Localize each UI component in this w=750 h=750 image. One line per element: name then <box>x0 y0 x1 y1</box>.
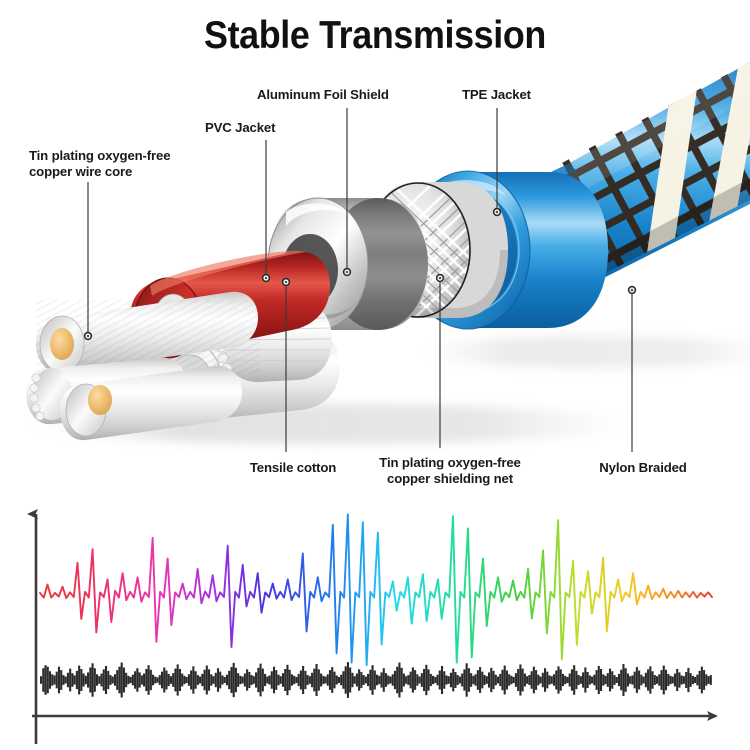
density-bar <box>374 671 376 690</box>
density-bar <box>696 675 698 686</box>
density-bar <box>302 666 304 694</box>
density-bar <box>80 669 82 691</box>
density-bar <box>445 675 447 684</box>
density-bar <box>165 671 167 690</box>
density-bar <box>636 667 638 693</box>
density-bar <box>652 671 654 688</box>
density-bar <box>575 671 577 689</box>
signal-trace <box>40 514 712 665</box>
anchor-dot-tin-plating-copper-wire-core <box>84 332 92 340</box>
density-bar <box>654 675 656 685</box>
density-bar <box>548 675 550 684</box>
density-bar <box>439 671 441 690</box>
density-bar <box>141 675 143 684</box>
density-bar <box>710 675 712 685</box>
transmission-waveform-chart <box>0 500 750 750</box>
density-bar <box>506 671 508 690</box>
anchor-dot-tin-plating-copper-shielding-net <box>436 274 444 282</box>
callout-label-tensile-cotton: Tensile cotton <box>218 460 368 476</box>
density-bar <box>197 675 199 685</box>
density-bar <box>298 674 300 686</box>
density-bar <box>74 675 76 684</box>
density-bar <box>631 675 633 684</box>
density-bar <box>699 671 701 689</box>
density-bar <box>526 676 528 684</box>
copper-core-lower <box>88 385 112 415</box>
density-bar <box>257 668 259 692</box>
density-bar <box>611 671 613 688</box>
density-bar <box>656 676 658 684</box>
density-bar <box>179 669 181 691</box>
density-bar <box>318 669 320 690</box>
density-bar <box>517 669 519 691</box>
density-bar <box>376 675 378 686</box>
density-bar <box>103 669 105 690</box>
density-bar <box>403 674 405 687</box>
density-bar <box>468 668 470 692</box>
density-bar <box>53 675 55 684</box>
density-bar <box>434 677 436 683</box>
density-bar <box>475 674 477 685</box>
density-bar <box>510 676 512 684</box>
density-bar <box>658 674 660 685</box>
density-bar <box>479 667 481 693</box>
density-bar <box>291 674 293 685</box>
density-bar <box>495 675 497 686</box>
density-bar <box>443 671 445 688</box>
density-bar <box>204 670 206 691</box>
density-bar <box>170 676 172 684</box>
density-bar <box>690 673 692 687</box>
copper-core-upper <box>50 328 74 360</box>
density-bar <box>580 676 582 684</box>
density-bar <box>490 668 492 692</box>
density-bar <box>669 676 671 684</box>
density-bar <box>553 674 555 685</box>
density-bar <box>51 674 53 685</box>
density-bar <box>266 677 268 684</box>
density-bar <box>508 674 510 685</box>
density-bar <box>83 674 85 687</box>
density-bar <box>649 666 651 693</box>
density-bar <box>340 675 342 686</box>
density-bar <box>121 663 123 698</box>
density-bar <box>410 672 412 689</box>
density-bar <box>385 673 387 687</box>
density-bar <box>681 675 683 684</box>
density-bar <box>537 675 539 686</box>
density-bar <box>687 668 689 692</box>
density-bar <box>613 675 615 685</box>
density-bar <box>562 674 564 686</box>
density-bar <box>425 665 427 695</box>
density-bar <box>233 663 235 697</box>
density-bar <box>190 671 192 690</box>
density-bar <box>139 672 141 687</box>
density-bar <box>367 674 369 686</box>
density-bar <box>484 675 486 685</box>
density-bar <box>683 676 685 684</box>
density-bar <box>708 676 710 684</box>
anchor-dot-tensile-cotton <box>282 278 290 286</box>
density-bar <box>499 674 501 686</box>
density-bar <box>457 675 459 685</box>
density-bar <box>100 674 102 687</box>
density-bar <box>609 669 611 692</box>
chart-axes <box>32 514 716 744</box>
density-bar <box>148 665 150 695</box>
density-bar <box>694 677 696 683</box>
density-bar <box>477 670 479 690</box>
density-bar <box>531 671 533 688</box>
density-bar <box>271 671 273 688</box>
density-bar <box>89 667 91 692</box>
density-bar <box>255 672 257 687</box>
density-bar <box>607 673 609 687</box>
density-bar <box>114 674 116 685</box>
callout-label-pvc-jacket: PVC Jacket <box>205 120 325 136</box>
density-bar <box>470 673 472 687</box>
density-bar <box>226 675 228 686</box>
density-bar <box>513 677 515 683</box>
density-bar <box>589 675 591 684</box>
density-bar <box>701 667 703 694</box>
density-bar <box>497 677 499 684</box>
density-bar <box>309 676 311 684</box>
density-bar <box>625 668 627 692</box>
density-bar <box>92 663 94 696</box>
density-bar <box>286 665 288 695</box>
density-bar <box>181 674 183 687</box>
density-bar <box>546 672 548 689</box>
callout-label-nylon-braided: Nylon Braided <box>568 460 718 476</box>
density-bar <box>150 670 152 691</box>
density-bar <box>94 668 96 692</box>
density-bar <box>542 673 544 687</box>
density-bar <box>640 675 642 686</box>
density-bar <box>383 668 385 692</box>
density-bar <box>105 666 107 694</box>
density-bar <box>65 677 67 684</box>
density-bar <box>107 671 109 689</box>
density-bar <box>481 672 483 689</box>
density-bar <box>450 673 452 687</box>
density-bar <box>602 674 604 685</box>
density-bar <box>466 663 468 696</box>
anchor-dot-tpe-jacket <box>493 208 501 216</box>
density-bar <box>372 665 374 695</box>
density-bar <box>192 666 194 693</box>
density-bar <box>627 674 629 687</box>
density-bar <box>304 671 306 689</box>
density-bar <box>519 664 521 695</box>
density-bar <box>130 677 132 683</box>
density-bar <box>634 672 636 689</box>
density-bar <box>228 671 230 689</box>
density-bar <box>248 672 250 688</box>
density-bar <box>60 670 62 690</box>
density-bar <box>163 667 165 692</box>
density-bar <box>448 676 450 684</box>
density-bar <box>380 672 382 687</box>
density-bar <box>293 676 295 684</box>
density-bar <box>159 675 161 685</box>
density-bar <box>199 677 201 684</box>
density-bar <box>237 673 239 687</box>
density-bar <box>316 664 318 696</box>
density-bar <box>622 664 624 696</box>
density-bar <box>643 677 645 684</box>
density-bar <box>600 669 602 691</box>
density-bar <box>365 677 367 684</box>
density-bar <box>342 671 344 688</box>
density-bar <box>69 669 71 692</box>
density-bar <box>123 667 125 692</box>
density-bar <box>62 675 64 685</box>
density-bar <box>401 668 403 692</box>
density-bar <box>524 674 526 687</box>
density-bar <box>311 673 313 687</box>
density-bar <box>327 674 329 685</box>
density-bar <box>436 675 438 686</box>
density-bar <box>268 675 270 684</box>
density-bar <box>188 674 190 685</box>
density-bar <box>85 676 87 684</box>
density-bar <box>183 676 185 684</box>
density-bar <box>215 673 217 687</box>
density-bar <box>492 671 494 689</box>
density-bar <box>441 666 443 694</box>
density-bar <box>219 672 221 689</box>
density-bar <box>678 672 680 687</box>
density-bar <box>262 669 264 692</box>
density-bar <box>463 669 465 690</box>
density-bar <box>676 669 678 691</box>
density-bar <box>177 664 179 695</box>
density-bar <box>98 676 100 684</box>
density-bar <box>273 667 275 694</box>
density-bar <box>349 667 351 692</box>
density-bar <box>264 674 266 686</box>
density-bar <box>591 677 593 684</box>
density-bar <box>461 674 463 687</box>
density-bar <box>208 669 210 690</box>
density-bar <box>573 665 575 695</box>
density-bar <box>260 664 262 697</box>
density-bar <box>76 671 78 689</box>
density-bar <box>96 674 98 685</box>
density-bar <box>336 675 338 684</box>
density-bar <box>663 666 665 695</box>
density-bar <box>118 667 120 694</box>
density-bar <box>414 670 416 690</box>
density-bar <box>501 670 503 691</box>
density-bar <box>212 676 214 684</box>
density-bar <box>405 676 407 684</box>
density-bar <box>172 673 174 687</box>
density-bar <box>246 669 248 690</box>
density-bar <box>540 677 542 684</box>
density-bar <box>629 676 631 684</box>
density-bar <box>369 670 371 691</box>
density-bar <box>504 666 506 695</box>
density-bar <box>242 677 244 684</box>
density-bar <box>665 670 667 691</box>
density-bar <box>551 676 553 684</box>
density-bar <box>703 670 705 690</box>
density-bar <box>560 669 562 690</box>
density-bar <box>421 673 423 687</box>
density-bar <box>156 677 158 682</box>
density-bar <box>618 674 620 686</box>
density-bar <box>295 677 297 683</box>
density-bar <box>705 674 707 685</box>
density-bar <box>356 674 358 687</box>
callout-label-tin-plating-copper-shielding-net: Tin plating oxygen-free copper shielding… <box>355 455 545 486</box>
density-bar <box>320 674 322 687</box>
density-bar <box>221 675 223 684</box>
density-bar <box>387 675 389 684</box>
density-bar <box>277 675 279 686</box>
density-bar <box>544 668 546 692</box>
density-bar <box>307 675 309 685</box>
density-bar <box>154 677 156 684</box>
density-bar <box>351 673 353 687</box>
density-bar <box>378 676 380 684</box>
density-bar <box>239 676 241 684</box>
density-bar <box>333 672 335 689</box>
density-bar <box>112 677 114 684</box>
density-bar <box>432 676 434 684</box>
density-bar <box>587 672 589 688</box>
density-bar <box>412 667 414 692</box>
density-bar <box>660 670 662 690</box>
density-bar <box>40 676 42 684</box>
density-bar <box>674 674 676 687</box>
density-bar <box>186 677 188 683</box>
density-bar <box>87 672 89 687</box>
density-bar <box>407 675 409 685</box>
density-bar <box>322 676 324 684</box>
density-bar <box>522 669 524 692</box>
density-bar <box>109 675 111 685</box>
density-bar <box>145 669 147 691</box>
density-bar <box>620 670 622 691</box>
density-bar <box>360 672 362 688</box>
density-bar <box>528 675 530 685</box>
density-bar <box>134 671 136 688</box>
density-bar <box>571 669 573 690</box>
density-bar <box>324 677 326 684</box>
density-bar <box>174 669 176 692</box>
density-bar <box>56 672 58 689</box>
density-bar <box>416 674 418 685</box>
density-bar <box>564 676 566 684</box>
density-bar <box>244 674 246 687</box>
density-bar <box>282 673 284 687</box>
density-bar <box>42 668 44 692</box>
density-bar <box>604 676 606 684</box>
density-bar <box>251 675 253 685</box>
density-bar <box>217 668 219 692</box>
density-bar <box>423 669 425 691</box>
density-bar <box>430 674 432 686</box>
density-bar <box>201 674 203 686</box>
density-bar <box>566 677 568 683</box>
density-bar <box>419 677 421 684</box>
density-bar <box>555 671 557 690</box>
density-bar <box>143 674 145 687</box>
density-bar <box>616 677 618 683</box>
density-bar <box>428 669 430 690</box>
density-bar <box>452 669 454 692</box>
density-bar <box>692 676 694 684</box>
density-bar <box>206 666 208 695</box>
density-bar <box>329 670 331 690</box>
density-bar <box>645 673 647 687</box>
density-bar <box>396 667 398 694</box>
cable-cutaway-diagram <box>0 0 750 500</box>
density-bar <box>593 675 595 686</box>
density-bar <box>331 667 333 693</box>
density-bar <box>685 672 687 688</box>
density-bar <box>44 665 46 695</box>
density-bar <box>454 672 456 688</box>
density-bar <box>672 677 674 684</box>
density-bar <box>354 676 356 684</box>
anchor-dot-aluminum-foil-shield <box>343 268 351 276</box>
density-bar <box>459 677 461 684</box>
density-bar <box>67 673 69 687</box>
density-bar <box>638 671 640 690</box>
density-bar <box>161 672 163 689</box>
density-bar <box>71 673 73 687</box>
density-bar <box>235 668 237 692</box>
density-bar <box>488 672 490 687</box>
density-bar <box>116 670 118 690</box>
density-bar <box>582 672 584 687</box>
density-bar <box>132 675 134 686</box>
density-bar <box>289 670 291 691</box>
density-bar <box>136 668 138 692</box>
density-bar <box>345 666 347 693</box>
density-bar <box>49 671 51 688</box>
density-bar <box>280 676 282 684</box>
density-bar <box>210 674 212 685</box>
density-bar <box>47 667 49 694</box>
density-bar <box>300 671 302 690</box>
density-bar <box>578 675 580 685</box>
density-bar <box>152 675 154 686</box>
density-bar <box>569 674 571 687</box>
callout-label-tpe-jacket: TPE Jacket <box>462 87 582 103</box>
density-bar <box>58 667 60 694</box>
density-bar <box>195 671 197 688</box>
density-bar <box>533 667 535 694</box>
density-bar <box>584 667 586 692</box>
density-bar <box>338 677 340 683</box>
density-bar <box>313 669 315 692</box>
density-bar <box>486 676 488 684</box>
density-bar <box>347 662 349 698</box>
density-bar <box>230 667 232 693</box>
density-bar <box>596 670 598 690</box>
density-bar <box>389 677 391 684</box>
infographic-root: Stable Transmission <box>0 0 750 750</box>
density-bar <box>667 674 669 686</box>
density-bar <box>394 671 396 689</box>
density-bar <box>557 666 559 693</box>
